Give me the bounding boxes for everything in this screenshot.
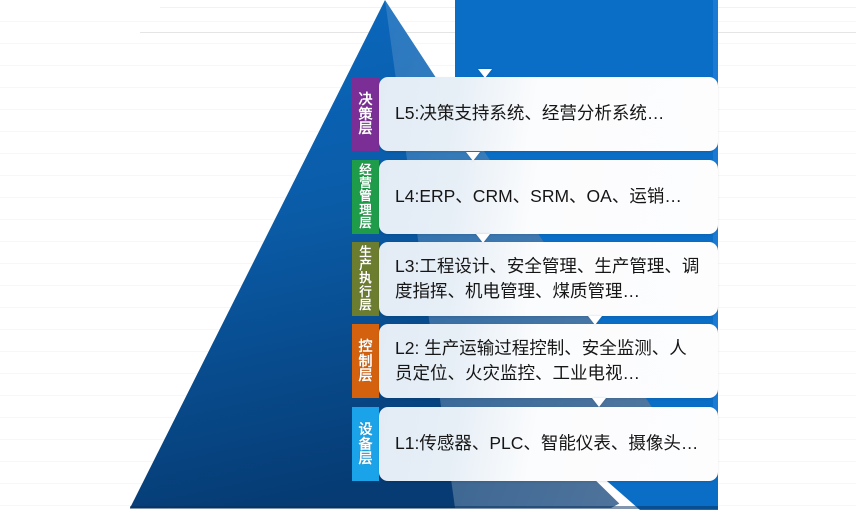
tab-char: 层 (359, 451, 373, 466)
layer-card-text: L3:工程设计、安全管理、生产管理、调度指挥、机电管理、煤质管理… (395, 254, 704, 305)
layer-card-text: L4:ERP、CRM、SRM、OA、运销… (395, 184, 682, 209)
layer-row-l2[interactable]: 控 制 层 L2: 生产运输过程控制、安全监测、人员定位、火灾监控、工业电视… (352, 324, 718, 398)
tab-char: 行 (359, 286, 372, 299)
layer-tab-production-execution[interactable]: 生 产 执 行 层 (352, 242, 379, 316)
layer-card-l5[interactable]: L5:决策支持系统、经营分析系统… (379, 77, 718, 151)
layer-tab-device[interactable]: 设 备 层 (352, 407, 379, 481)
connector-arrow-l4-l3 (476, 234, 490, 243)
connector-arrow-l2-l1 (592, 398, 606, 407)
diagram-canvas: 决 策 层 L5:决策支持系统、经营分析系统… 经 营 管 理 层 L4:ERP… (0, 0, 856, 514)
layer-row-l3[interactable]: 生 产 执 行 层 L3:工程设计、安全管理、生产管理、调度指挥、机电管理、煤质… (352, 242, 718, 316)
tab-char: 层 (359, 368, 373, 383)
tab-char: 决 (359, 92, 373, 107)
tab-char: 层 (359, 299, 372, 312)
layer-card-text: L2: 生产运输过程控制、安全监测、人员定位、火灾监控、工业电视… (395, 336, 704, 387)
connector-arrow-l3-l2 (588, 316, 602, 325)
layer-card-l4[interactable]: L4:ERP、CRM、SRM、OA、运销… (379, 160, 718, 234)
layer-card-text: L5:决策支持系统、经营分析系统… (395, 101, 664, 126)
connector-arrow-apex-l5 (478, 69, 492, 78)
layer-tab-control[interactable]: 控 制 层 (352, 324, 379, 398)
tab-char: 执 (359, 272, 372, 285)
layer-tab-decision[interactable]: 决 策 层 (352, 77, 379, 151)
connector-arrow-l5-l4 (466, 152, 480, 161)
tab-char: 理 (359, 204, 372, 217)
layer-card-l1[interactable]: L1:传感器、PLC、智能仪表、摄像头… (379, 407, 718, 481)
tab-char: 控 (359, 339, 373, 354)
layer-tab-business-management[interactable]: 经 营 管 理 层 (352, 160, 379, 234)
layer-card-text: L1:传感器、PLC、智能仪表、摄像头… (395, 431, 698, 456)
layer-row-l1[interactable]: 设 备 层 L1:传感器、PLC、智能仪表、摄像头… (352, 407, 718, 481)
layer-row-l5[interactable]: 决 策 层 L5:决策支持系统、经营分析系统… (352, 77, 718, 151)
tab-char: 层 (359, 217, 372, 230)
layer-card-l3[interactable]: L3:工程设计、安全管理、生产管理、调度指挥、机电管理、煤质管理… (379, 242, 718, 316)
layer-rows: 决 策 层 L5:决策支持系统、经营分析系统… 经 营 管 理 层 L4:ERP… (0, 0, 856, 514)
layer-row-l4[interactable]: 经 营 管 理 层 L4:ERP、CRM、SRM、OA、运销… (352, 160, 718, 234)
tab-char: 层 (359, 121, 373, 136)
tab-char: 设 (359, 422, 373, 437)
layer-card-l2[interactable]: L2: 生产运输过程控制、安全监测、人员定位、火灾监控、工业电视… (379, 324, 718, 398)
tab-char: 管 (359, 190, 372, 203)
